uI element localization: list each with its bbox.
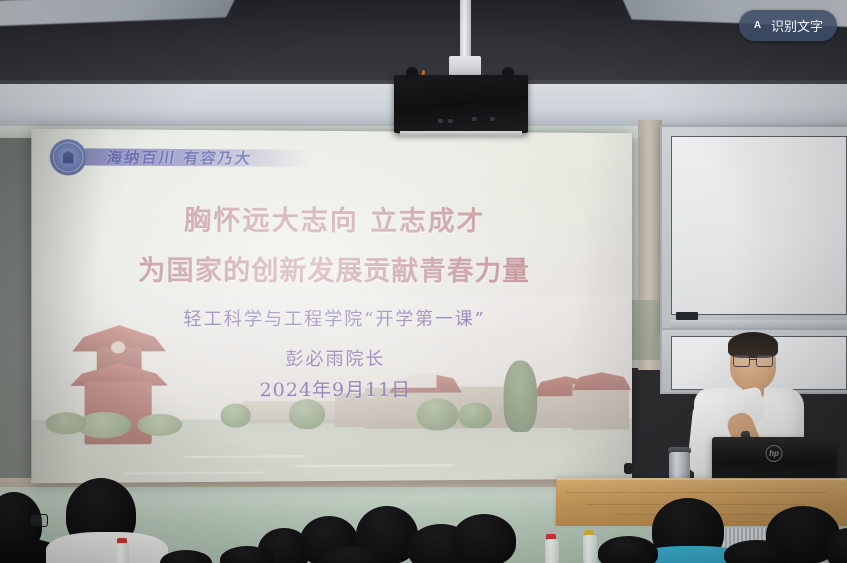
photo-tree-3 <box>458 402 492 428</box>
slide-subtitle-line-2: 彭必雨院长 <box>31 345 632 372</box>
audience-white-shirt <box>46 532 168 563</box>
projector-knob-left <box>406 67 418 78</box>
slide-header: 海纳百川 有容乃大 <box>44 137 604 181</box>
projector-led-4 <box>490 117 495 121</box>
glasses-lens-left <box>733 355 750 367</box>
projector-led-3 <box>472 117 477 121</box>
audience-glasses-icon <box>30 514 48 527</box>
audience-head-7 <box>452 514 516 563</box>
audience-head-12 <box>598 536 658 563</box>
projector-mount-bracket <box>449 56 481 76</box>
glasses-bridge <box>749 359 757 360</box>
speaker-glasses-icon <box>733 355 773 365</box>
projector-mount-pole <box>460 0 471 58</box>
slide-subtitle-line-3: 2024年9月11日 <box>31 374 632 403</box>
slide-subtitle-line-1: 轻工科学与工程学院“开学第一课” <box>31 305 632 331</box>
whiteboard <box>660 125 847 334</box>
projection-screen: 海纳百川 有容乃大 胸怀远大志向 立志成才 为国家的创新发展贡献青春力量 轻工科… <box>31 129 632 484</box>
slide-motto-text: 海纳百川 有容乃大 <box>105 146 253 168</box>
projector-base-plate <box>400 131 522 136</box>
water-bottle-2 <box>545 539 559 563</box>
projector-led-1 <box>438 119 443 123</box>
whiteboard-eraser <box>676 312 698 320</box>
photo-tree-2 <box>417 399 459 431</box>
audience-head-14 <box>724 540 790 563</box>
hp-logo-icon: hp <box>766 445 783 462</box>
ocr-icon-letter: A <box>750 18 765 33</box>
recognize-text-button[interactable]: A 识别文字 <box>739 10 837 41</box>
university-emblem-icon <box>50 139 87 176</box>
whiteboard-surface <box>671 136 847 315</box>
photo-shrub-2 <box>137 414 182 436</box>
classroom-lecture-photo: 海纳百川 有容乃大 胸怀远大志向 立志成才 为国家的创新发展贡献青春力量 轻工科… <box>0 0 847 563</box>
photo-tree-1 <box>289 399 325 429</box>
podium-grain-1 <box>566 492 826 493</box>
glasses-lens-right <box>756 355 773 367</box>
text-recognition-icon: A <box>750 18 765 33</box>
projector-led-2 <box>448 119 453 123</box>
photo-tree-4 <box>221 403 251 427</box>
slide-title-line-1: 胸怀远大志向 立志成才 <box>31 198 632 239</box>
desk-microphone <box>624 463 633 474</box>
slide-title-line-2: 为国家的创新发展贡献青春力量 <box>31 248 632 288</box>
photo-shrub-3 <box>46 412 87 434</box>
recognize-text-label: 识别文字 <box>771 16 823 35</box>
projector-knob-right <box>502 67 514 78</box>
ceiling-projector <box>394 75 528 133</box>
water-bottle-1 <box>115 543 129 563</box>
water-bottle-3 <box>583 535 597 563</box>
